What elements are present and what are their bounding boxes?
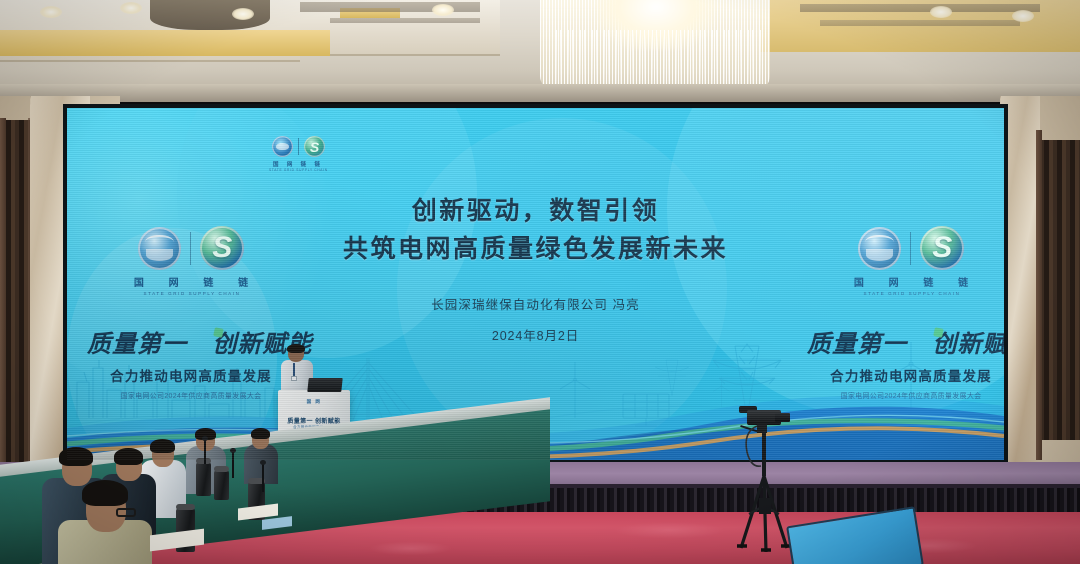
podium-logo: 国 网 [307, 399, 322, 405]
banner-right-fine: 国家电网公司2024年供应商高质量发展大会 [807, 391, 1004, 401]
slide-title-block: 创新驱动，数智引领 共筑电网高质量绿色发展新未来 长园深瑞继保自动化有限公司 冯… [67, 108, 1004, 344]
podium-laptop [307, 378, 342, 392]
slide-title-line2: 共筑电网高质量绿色发展新未来 [67, 230, 1004, 268]
right-curtain [1040, 140, 1080, 440]
banner-left-sub: 合力推动电网高质量发展 [87, 365, 295, 385]
banner-left-fine: 国家电网公司2024年供应商高质量发展大会 [87, 391, 295, 401]
microphone [232, 452, 234, 478]
slide-title-line1: 创新驱动，数智引领 [67, 192, 1004, 230]
banner-right-sub: 合力推动电网高质量发展 [807, 365, 1004, 385]
slide-presenter: 长园深瑞继保自动化有限公司 冯亮 [67, 294, 1004, 313]
slide-date: 2024年8月2日 [67, 325, 1004, 344]
thermos-flask [214, 470, 229, 500]
thermos-flask [196, 462, 211, 496]
ceiling [0, 0, 1080, 100]
microphone [204, 440, 206, 464]
microphone [262, 464, 264, 492]
eyeglasses-icon [116, 508, 136, 517]
conference-hall-scene: 国 网 链 链 STATE GRID SUPPLY CHAIN 创新驱动，数智引… [0, 0, 1080, 564]
